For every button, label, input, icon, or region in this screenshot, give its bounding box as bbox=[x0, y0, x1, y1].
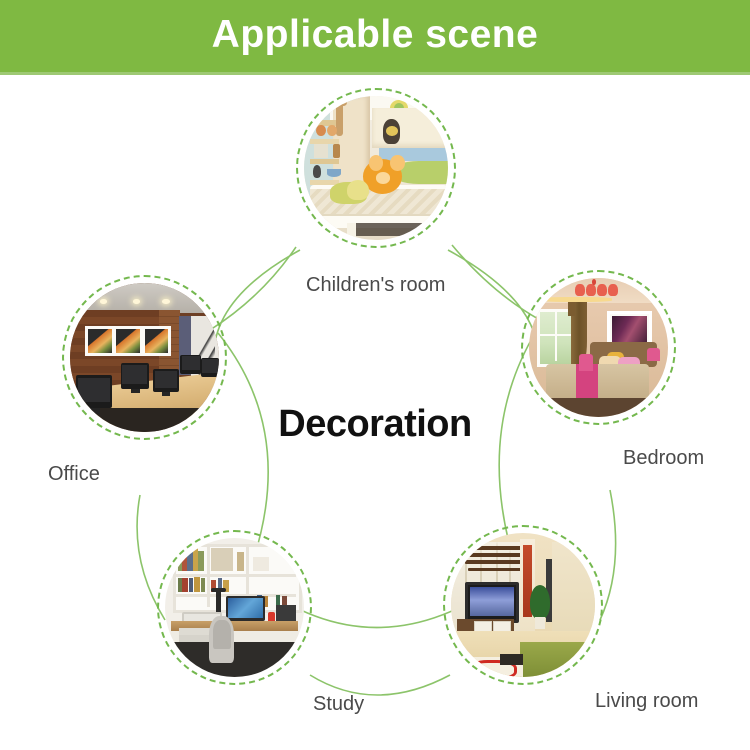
connector-living-study bbox=[310, 675, 450, 695]
bedroom-photo bbox=[529, 278, 668, 417]
living-room-illustration bbox=[451, 533, 595, 677]
node-study[interactable]: Study bbox=[157, 530, 312, 685]
node-living-room[interactable]: Living room bbox=[443, 525, 603, 685]
applicable-scene-infographic: Applicable scene bbox=[0, 0, 750, 750]
office-photo bbox=[70, 283, 219, 432]
living-room-circle[interactable] bbox=[443, 525, 603, 685]
study-illustration bbox=[165, 538, 304, 677]
study-photo bbox=[165, 538, 304, 677]
living-room-photo bbox=[451, 533, 595, 677]
study-label: Study bbox=[313, 693, 364, 716]
node-childrens-room[interactable]: Children's room bbox=[296, 88, 456, 248]
scene-diagram: Decoration bbox=[0, 75, 750, 750]
childrens-room-illustration bbox=[304, 96, 448, 240]
bedroom-label: Bedroom bbox=[623, 447, 704, 470]
node-office[interactable]: Office bbox=[62, 275, 227, 440]
childrens-room-circle[interactable] bbox=[296, 88, 456, 248]
page-title: Applicable scene bbox=[0, 0, 750, 72]
childrens-room-photo bbox=[304, 96, 448, 240]
study-circle[interactable] bbox=[157, 530, 312, 685]
bedroom-circle[interactable] bbox=[521, 270, 676, 425]
node-bedroom[interactable]: Bedroom bbox=[521, 270, 676, 425]
office-label: Office bbox=[48, 463, 100, 486]
bedroom-illustration bbox=[529, 278, 668, 417]
header-bar: Applicable scene bbox=[0, 0, 750, 72]
office-circle[interactable] bbox=[62, 275, 227, 440]
office-illustration bbox=[70, 283, 219, 432]
living-room-label: Living room bbox=[595, 690, 698, 713]
childrens-room-label: Children's room bbox=[306, 274, 445, 297]
